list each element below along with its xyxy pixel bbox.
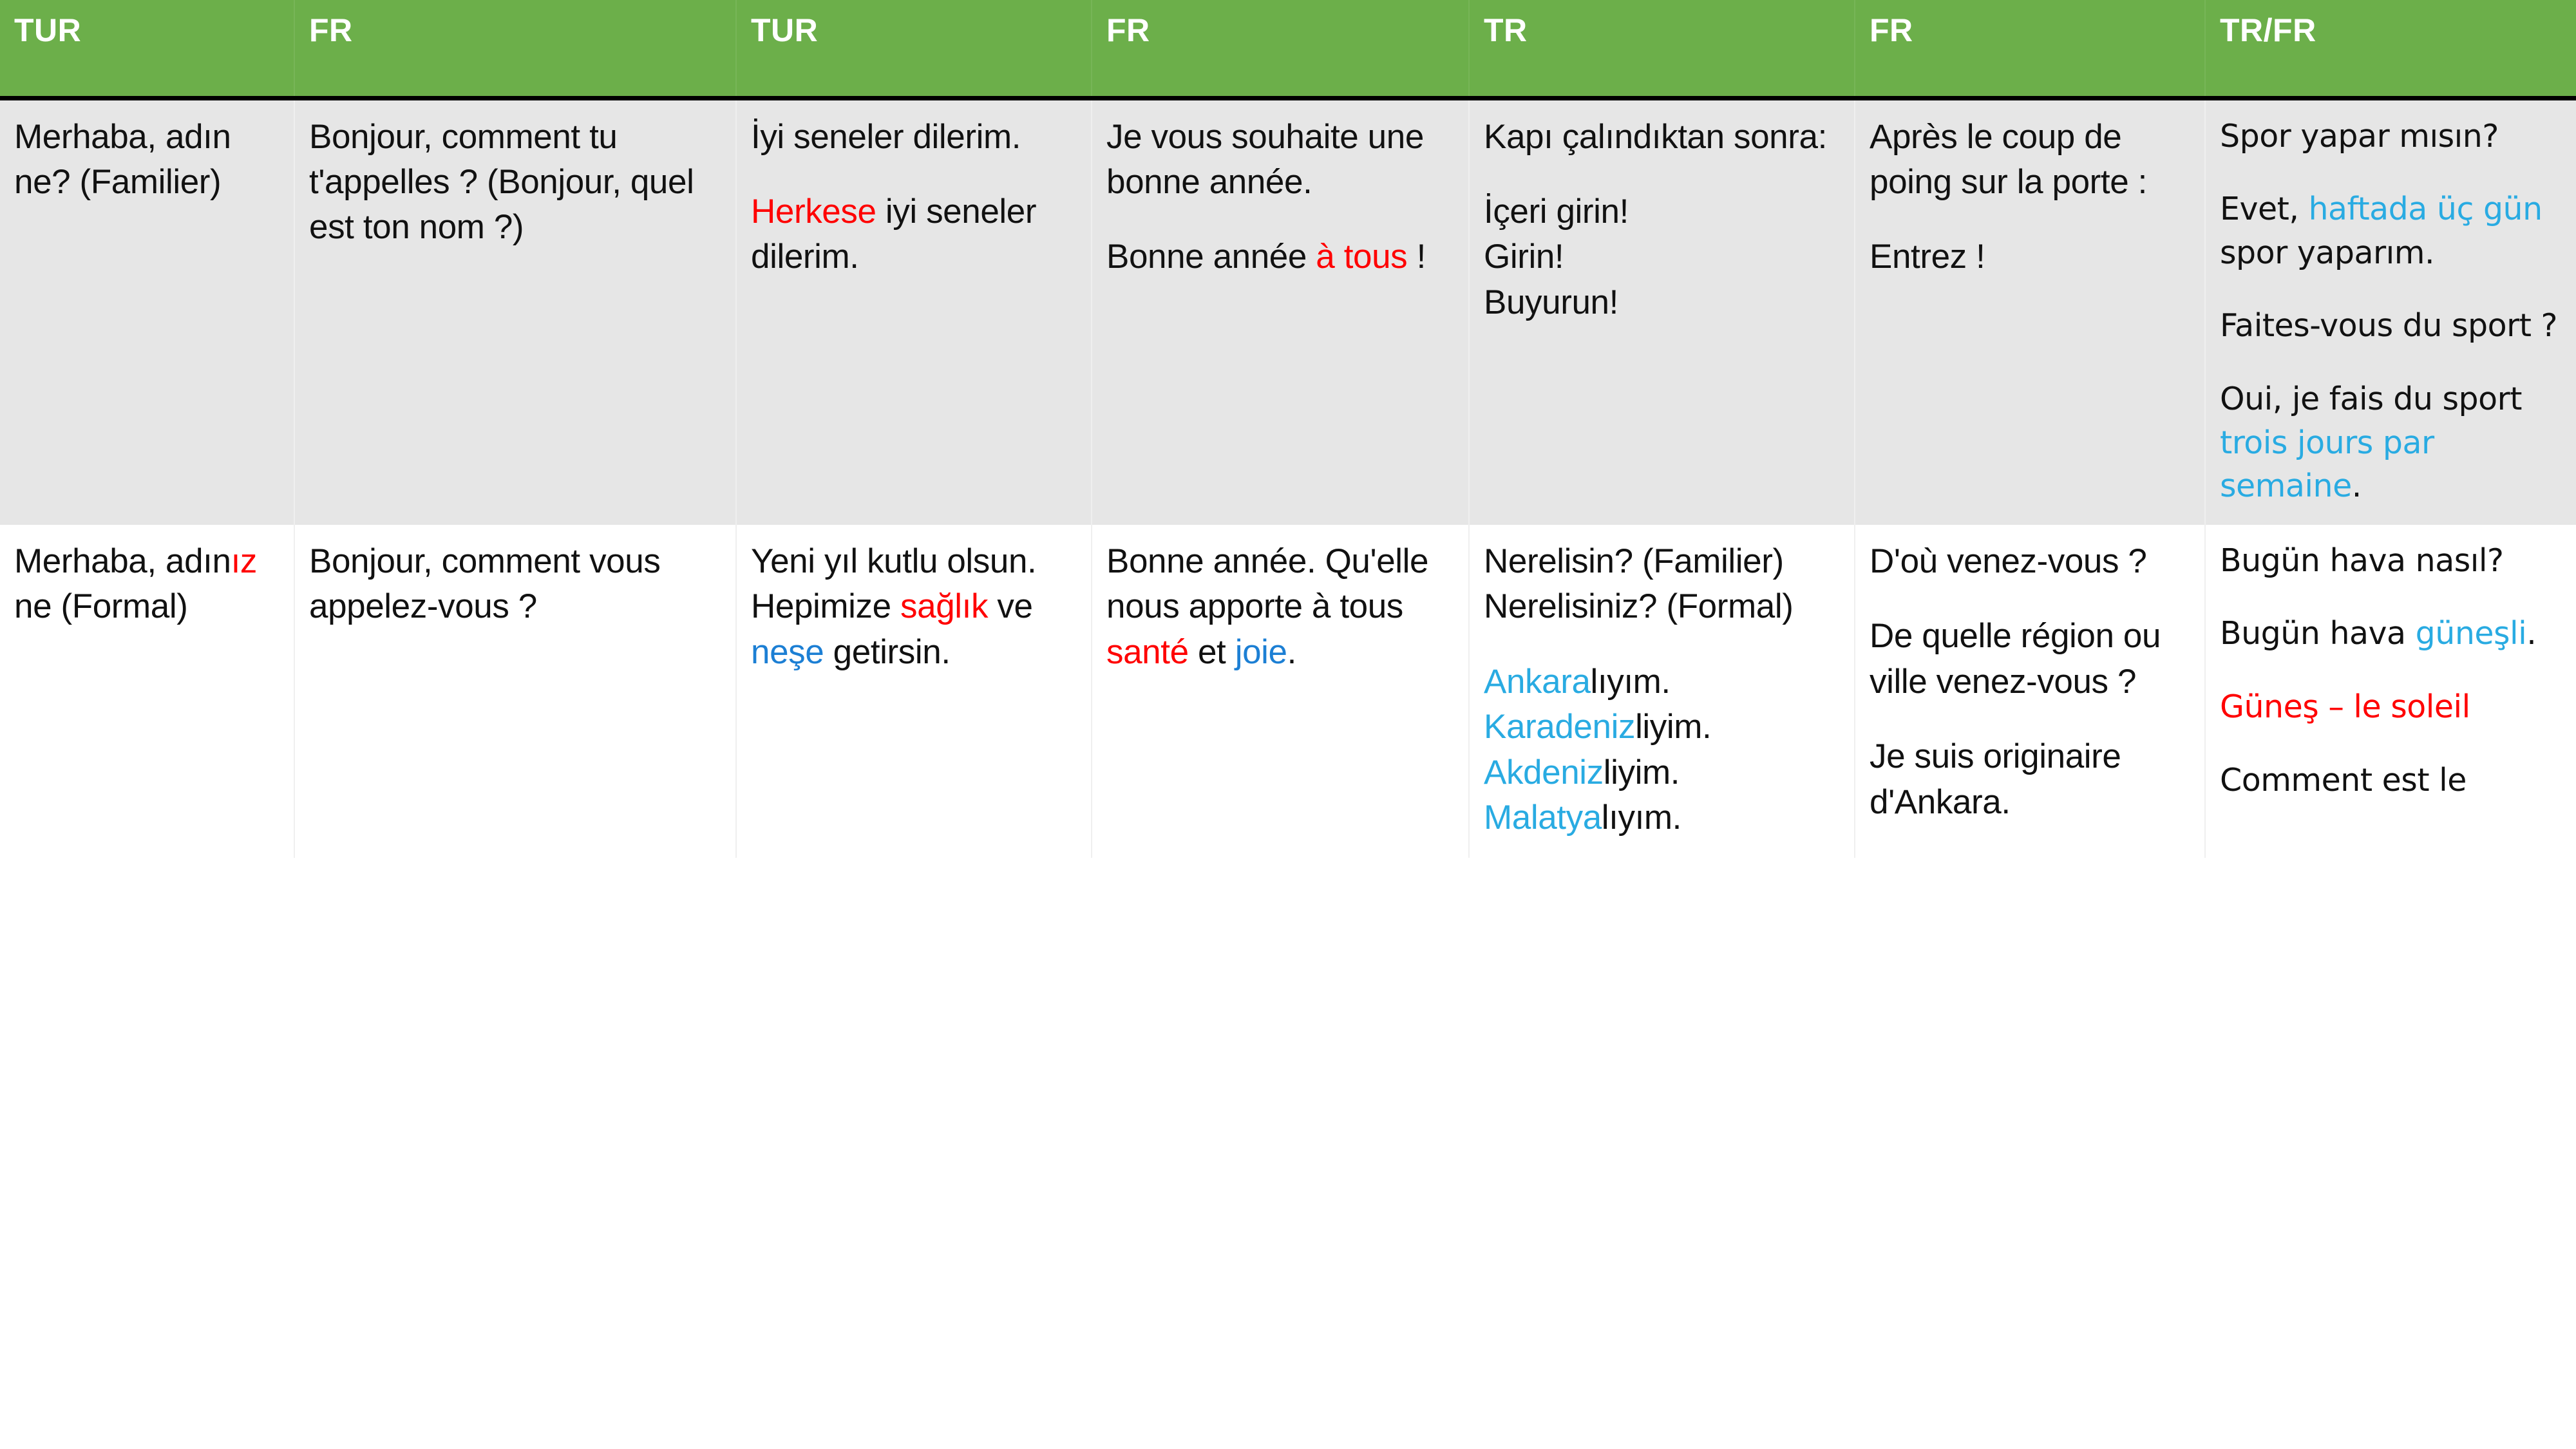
phrase-sport-answer-tr-tail: spor yaparım.	[2220, 234, 2434, 271]
highlight-iz-suffix: ız	[231, 542, 257, 580]
phrase-newyear-fr: Je vous souhaite une bonne année.	[1106, 115, 1452, 205]
highlight-herkese: Herkese	[751, 193, 876, 231]
phrase-weather-answer-tr-lead: Bugün hava	[2220, 615, 2416, 652]
phrase-sport-question-tr: Spor yapar mısın?	[2220, 115, 2559, 158]
cell-row2-col4: Bonne année. Qu'elle nous apporte à tous…	[1092, 525, 1469, 858]
phrase-newyear-wish-tr-mid: ve	[988, 587, 1033, 625]
phrase-origin-answer-akdeniz: Akdenizliyim.	[1484, 750, 1837, 795]
highlight-gunesli: güneşli	[2416, 615, 2527, 652]
column-header-tr-fr: TR/FR	[2205, 0, 2576, 98]
phrase-newyear-wish-fr-lead: Bonne année. Qu'elle nous apporte à tous	[1106, 542, 1428, 625]
phrase-weather-answer-tr-tail: .	[2526, 615, 2536, 652]
phrase-enter-tr-3: Buyurun!	[1484, 280, 1837, 325]
table-body: Merhaba, adın ne? (Familier) Bonjour, co…	[0, 98, 2576, 858]
cell-row1-col1: Merhaba, adın ne? (Familier)	[0, 98, 294, 525]
highlight-saglik: sağlık	[900, 587, 988, 625]
highlight-karadeniz: Karadeniz	[1484, 708, 1635, 746]
phrase-greeting-formal-tr-lead: Merhaba, adın	[14, 542, 231, 580]
column-header-tr: TR	[1469, 0, 1855, 98]
highlight-trois-jours-par-semaine: trois jours par semaine	[2220, 424, 2434, 505]
highlight-a-tous: à tous	[1316, 238, 1407, 276]
cell-row1-col4: Je vous souhaite une bonne année. Bonne …	[1092, 98, 1469, 525]
table-header-row: TUR FR TUR FR TR FR TR/FR	[0, 0, 2576, 98]
phrase-sport-answer-fr: Oui, je fais du sport trois jours par se…	[2220, 377, 2559, 508]
highlight-haftada-uc-gun: haftada üç gün	[2308, 191, 2542, 227]
phrase-weather-question-tr: Bugün hava nasıl?	[2220, 539, 2559, 583]
phrase-newyear-wish-fr: Bonne année. Qu'elle nous apporte à tous…	[1106, 539, 1452, 675]
phrase-origin-answer-akdeniz-tail: liyim.	[1604, 753, 1680, 791]
table-row: Merhaba, adınız ne (Formal) Bonjour, com…	[0, 525, 2576, 858]
phrase-enter-tr-1: İçeri girin!	[1484, 189, 1837, 234]
column-header-fr-1: FR	[294, 0, 736, 98]
phrase-newyear-all-fr-tail: !	[1407, 238, 1426, 276]
phrase-sport-answer-fr-tail: .	[2352, 468, 2362, 504]
phrase-newyear-all-tr: Herkese iyi seneler dilerim.	[751, 189, 1074, 280]
cell-row1-col7: Spor yapar mısın? Evet, haftada üç gün s…	[2205, 98, 2576, 525]
phrase-origin-answer-ankara-tail: lıyım.	[1591, 663, 1671, 701]
cell-row2-col7: Bugün hava nasıl? Bugün hava güneşli. Gü…	[2205, 525, 2576, 858]
phrase-origin-answer-malatya-tail: lıyım.	[1602, 799, 1681, 837]
phrase-vocab-gunes-soleil: Güneş – le soleil	[2220, 685, 2559, 729]
highlight-nese: neşe	[751, 633, 824, 671]
column-header-fr-2: FR	[1092, 0, 1469, 98]
table-row: Merhaba, adın ne? (Familier) Bonjour, co…	[0, 98, 2576, 525]
phrase-newyear-wish-tr-tail: getirsin.	[824, 633, 950, 671]
phrase-newyear-wish-fr-mid: et	[1189, 633, 1235, 671]
cell-row2-col3: Yeni yıl kutlu olsun. Hepimize sağlık ve…	[736, 525, 1092, 858]
phrase-newyear-tr: İyi seneler dilerim.	[751, 115, 1074, 160]
phrase-origin-question-region-fr: De quelle région ou ville venez-vous ?	[1870, 614, 2188, 705]
phrase-weather-answer-tr: Bugün hava güneşli.	[2220, 612, 2559, 656]
phrase-enter-tr-2: Girin!	[1484, 234, 1837, 279]
phrase-greeting-informal-fr: Bonjour, comment tu t'appelles ? (Bonjou…	[309, 115, 719, 251]
highlight-akdeniz: Akdeniz	[1484, 753, 1604, 791]
phrase-enter-fr: Entrez !	[1870, 234, 2188, 279]
phrase-door-context-fr: Après le coup de poing sur la porte :	[1870, 115, 2188, 205]
phrase-origin-answer-malatya: Malatyalıyım.	[1484, 795, 1837, 840]
cell-row2-col6: D'où venez-vous ? De quelle région ou vi…	[1855, 525, 2205, 858]
highlight-sante: santé	[1106, 633, 1189, 671]
phrase-newyear-wish-tr: Yeni yıl kutlu olsun. Hepimize sağlık ve…	[751, 539, 1074, 675]
language-comparison-table-page: TUR FR TUR FR TR FR TR/FR Merhaba, adın …	[0, 0, 2576, 1449]
phrase-greeting-informal-tr: Merhaba, adın ne? (Familier)	[14, 115, 277, 205]
cell-row2-col5: Nerelisin? (Familier) Nerelisiniz? (Form…	[1469, 525, 1855, 858]
phrase-origin-question-fr: D'où venez-vous ?	[1870, 539, 2188, 584]
cell-row2-col1: Merhaba, adınız ne (Formal)	[0, 525, 294, 858]
phrase-origin-answer-fr: Je suis originaire d'Ankara.	[1870, 734, 2188, 825]
column-header-tur-1: TUR	[0, 0, 294, 98]
highlight-joie: joie	[1235, 633, 1287, 671]
column-header-fr-3: FR	[1855, 0, 2205, 98]
phrase-origin-answer-karadeniz-tail: liyim.	[1635, 708, 1711, 746]
phrase-origin-answer-ankara: Ankaralıyım.	[1484, 659, 1837, 705]
phrase-origin-answer-karadeniz: Karadenizliyim.	[1484, 705, 1837, 750]
phrase-newyear-all-fr: Bonne année à tous !	[1106, 234, 1452, 279]
phrase-sport-answer-tr-lead: Evet,	[2220, 191, 2308, 227]
phrase-sport-question-fr: Faites-vous du sport ?	[2220, 304, 2559, 348]
phrase-greeting-formal-tr: Merhaba, adınız ne (Formal)	[14, 539, 277, 630]
phrase-origin-question-informal-tr: Nerelisin? (Familier)	[1484, 539, 1837, 584]
highlight-malatya: Malatya	[1484, 799, 1602, 837]
highlight-ankara: Ankara	[1484, 663, 1591, 701]
phrase-origin-question-formal-tr: Nerelisiniz? (Formal)	[1484, 584, 1837, 629]
phrase-newyear-wish-fr-tail: .	[1287, 633, 1296, 671]
cell-row1-col2: Bonjour, comment tu t'appelles ? (Bonjou…	[294, 98, 736, 525]
table-header: TUR FR TUR FR TR FR TR/FR	[0, 0, 2576, 98]
phrase-greeting-formal-tr-tail: ne (Formal)	[14, 587, 187, 625]
cell-row2-col2: Bonjour, comment vous appelez-vous ?	[294, 525, 736, 858]
cell-row1-col6: Après le coup de poing sur la porte : En…	[1855, 98, 2205, 525]
cell-row1-col5: Kapı çalındıktan sonra: İçeri girin! Gir…	[1469, 98, 1855, 525]
phrase-sport-answer-tr: Evet, haftada üç gün spor yaparım.	[2220, 187, 2559, 274]
language-phrase-table: TUR FR TUR FR TR FR TR/FR Merhaba, adın …	[0, 0, 2576, 858]
phrase-sport-answer-fr-lead: Oui, je fais du sport	[2220, 381, 2522, 417]
phrase-door-context-tr: Kapı çalındıktan sonra:	[1484, 115, 1837, 160]
phrase-greeting-formal-fr: Bonjour, comment vous appelez-vous ?	[309, 539, 719, 630]
phrase-weather-question-fr-truncated: Comment est le	[2220, 759, 2559, 802]
column-header-tur-2: TUR	[736, 0, 1092, 98]
phrase-newyear-all-fr-lead: Bonne année	[1106, 238, 1316, 276]
cell-row1-col3: İyi seneler dilerim. Herkese iyi seneler…	[736, 98, 1092, 525]
